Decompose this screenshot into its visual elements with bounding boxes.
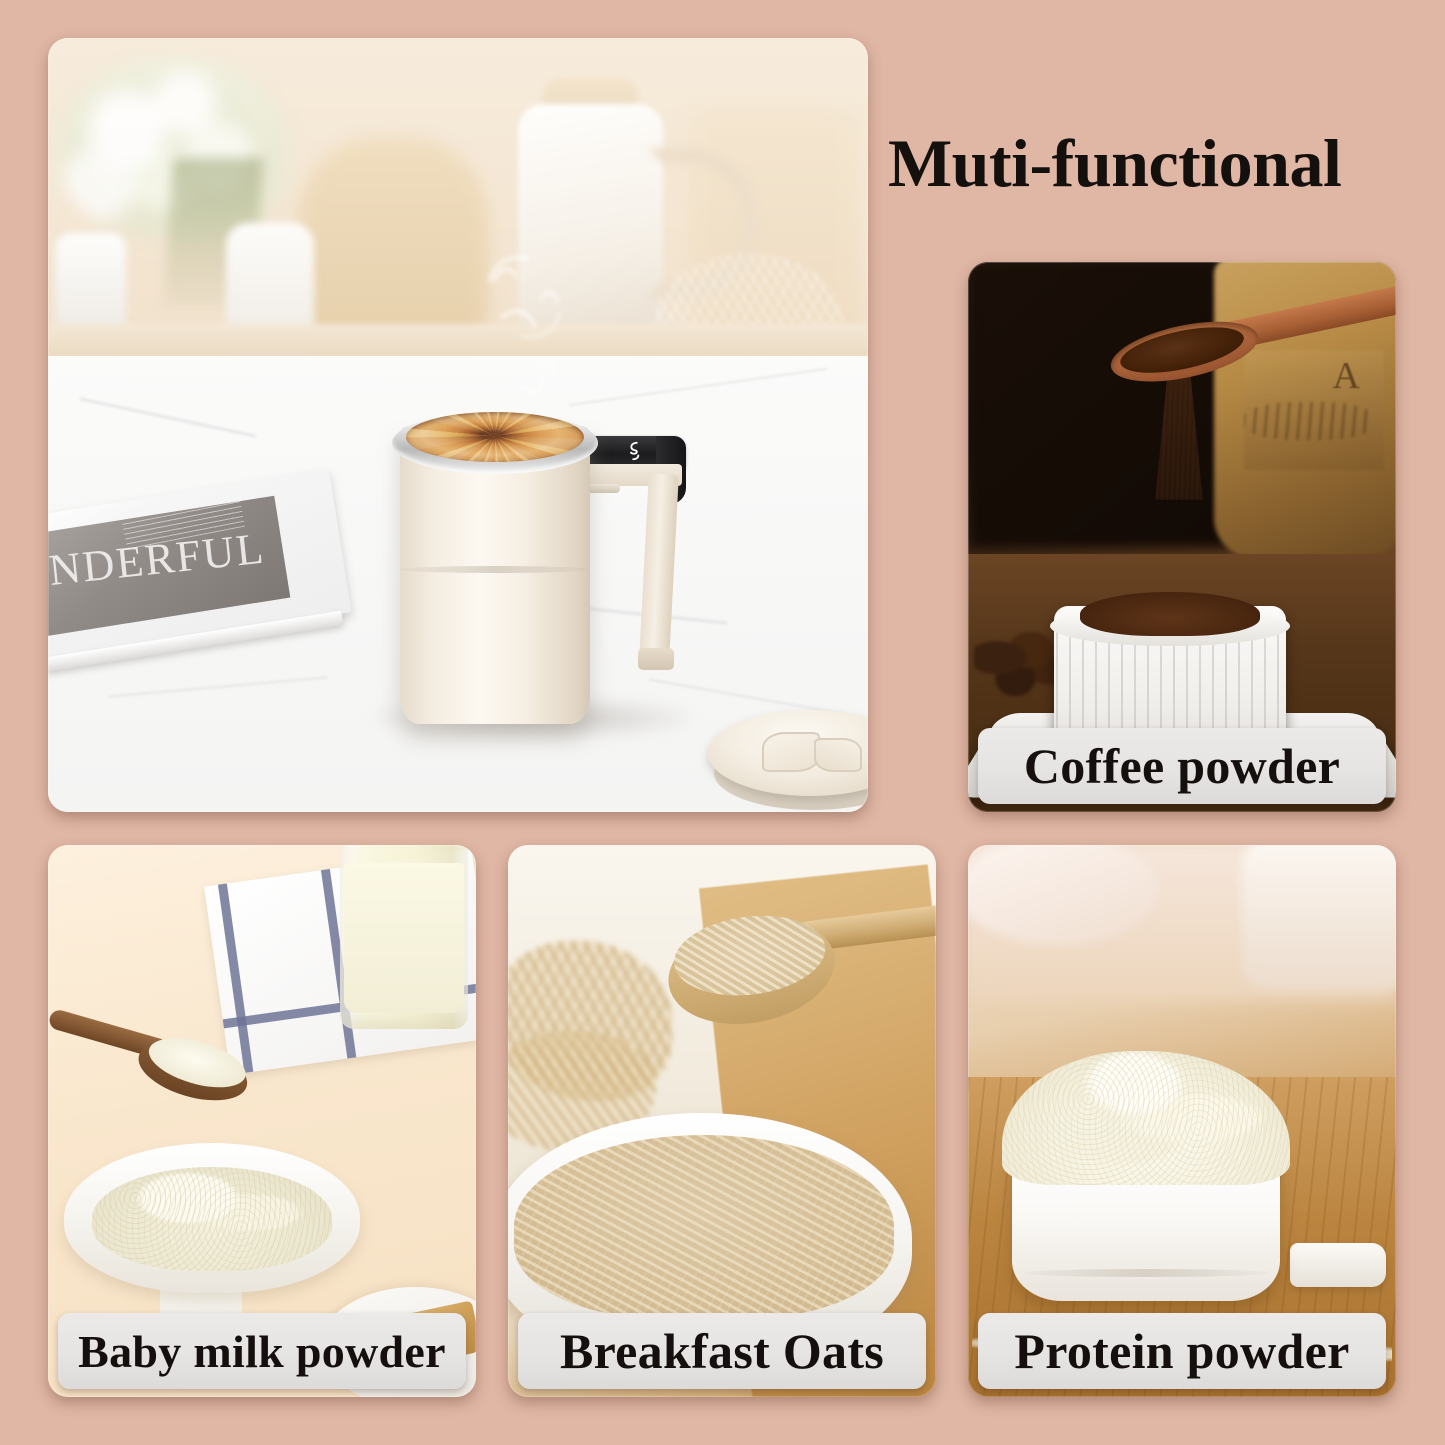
caption-label: Baby milk powder	[78, 1325, 446, 1378]
breakfast-oats-photo[interactable]: Breakfast Oats	[508, 845, 936, 1397]
caption-label: Coffee powder	[1024, 737, 1340, 795]
jar-script-text	[1244, 402, 1374, 440]
background-shelf	[48, 324, 868, 358]
scoop-ridge	[1024, 1269, 1268, 1277]
protein-powder-photo[interactable]: Protein powder	[968, 845, 1396, 1397]
caption-label: Breakfast Oats	[560, 1322, 884, 1380]
milk-powder-texture	[92, 1167, 332, 1271]
mug-handle-foot	[638, 648, 674, 670]
baby-milk-powder-photo[interactable]: Baby milk powder	[48, 845, 476, 1397]
caption-baby-milk-powder: Baby milk powder	[58, 1313, 466, 1389]
caption-breakfast-oats: Breakfast Oats	[518, 1313, 926, 1389]
lid-grip-notch	[814, 738, 862, 772]
protein-powder-texture	[1002, 1051, 1290, 1185]
page-title: Muti-functional	[888, 124, 1341, 203]
mug-power-button[interactable]	[586, 484, 620, 493]
caption-label: Protein powder	[1014, 1322, 1349, 1380]
mug-handle-grip[interactable]	[639, 473, 679, 660]
stir-swirl-icon	[624, 440, 646, 462]
background-jug	[1242, 845, 1396, 989]
coffee-powder-mound	[1080, 592, 1260, 636]
mug-body-seam	[400, 566, 590, 573]
self-stirring-mug	[386, 390, 676, 730]
oats-in-bowl	[514, 1135, 894, 1319]
milk-liquid	[344, 863, 464, 1013]
hero-product-photo[interactable]: ONDERFUL	[48, 38, 868, 812]
mug-scene: ONDERFUL	[48, 38, 868, 812]
lid-grip-notch	[762, 732, 820, 772]
jar-letter-A: A	[1333, 354, 1360, 398]
coffee-swirl-pattern	[406, 412, 584, 462]
coffee-powder-photo[interactable]: A Coffee powder	[968, 262, 1396, 812]
dark-backdrop	[968, 262, 1233, 548]
scoop-handle	[1290, 1243, 1386, 1287]
caption-coffee-powder: Coffee powder	[978, 728, 1386, 804]
infographic-canvas: Muti-functional	[0, 0, 1445, 1445]
coffee-beans-icon	[974, 632, 1066, 696]
caption-protein-powder: Protein powder	[978, 1313, 1386, 1389]
background-basket-icon	[298, 138, 488, 348]
mug-lid[interactable]	[708, 710, 868, 812]
